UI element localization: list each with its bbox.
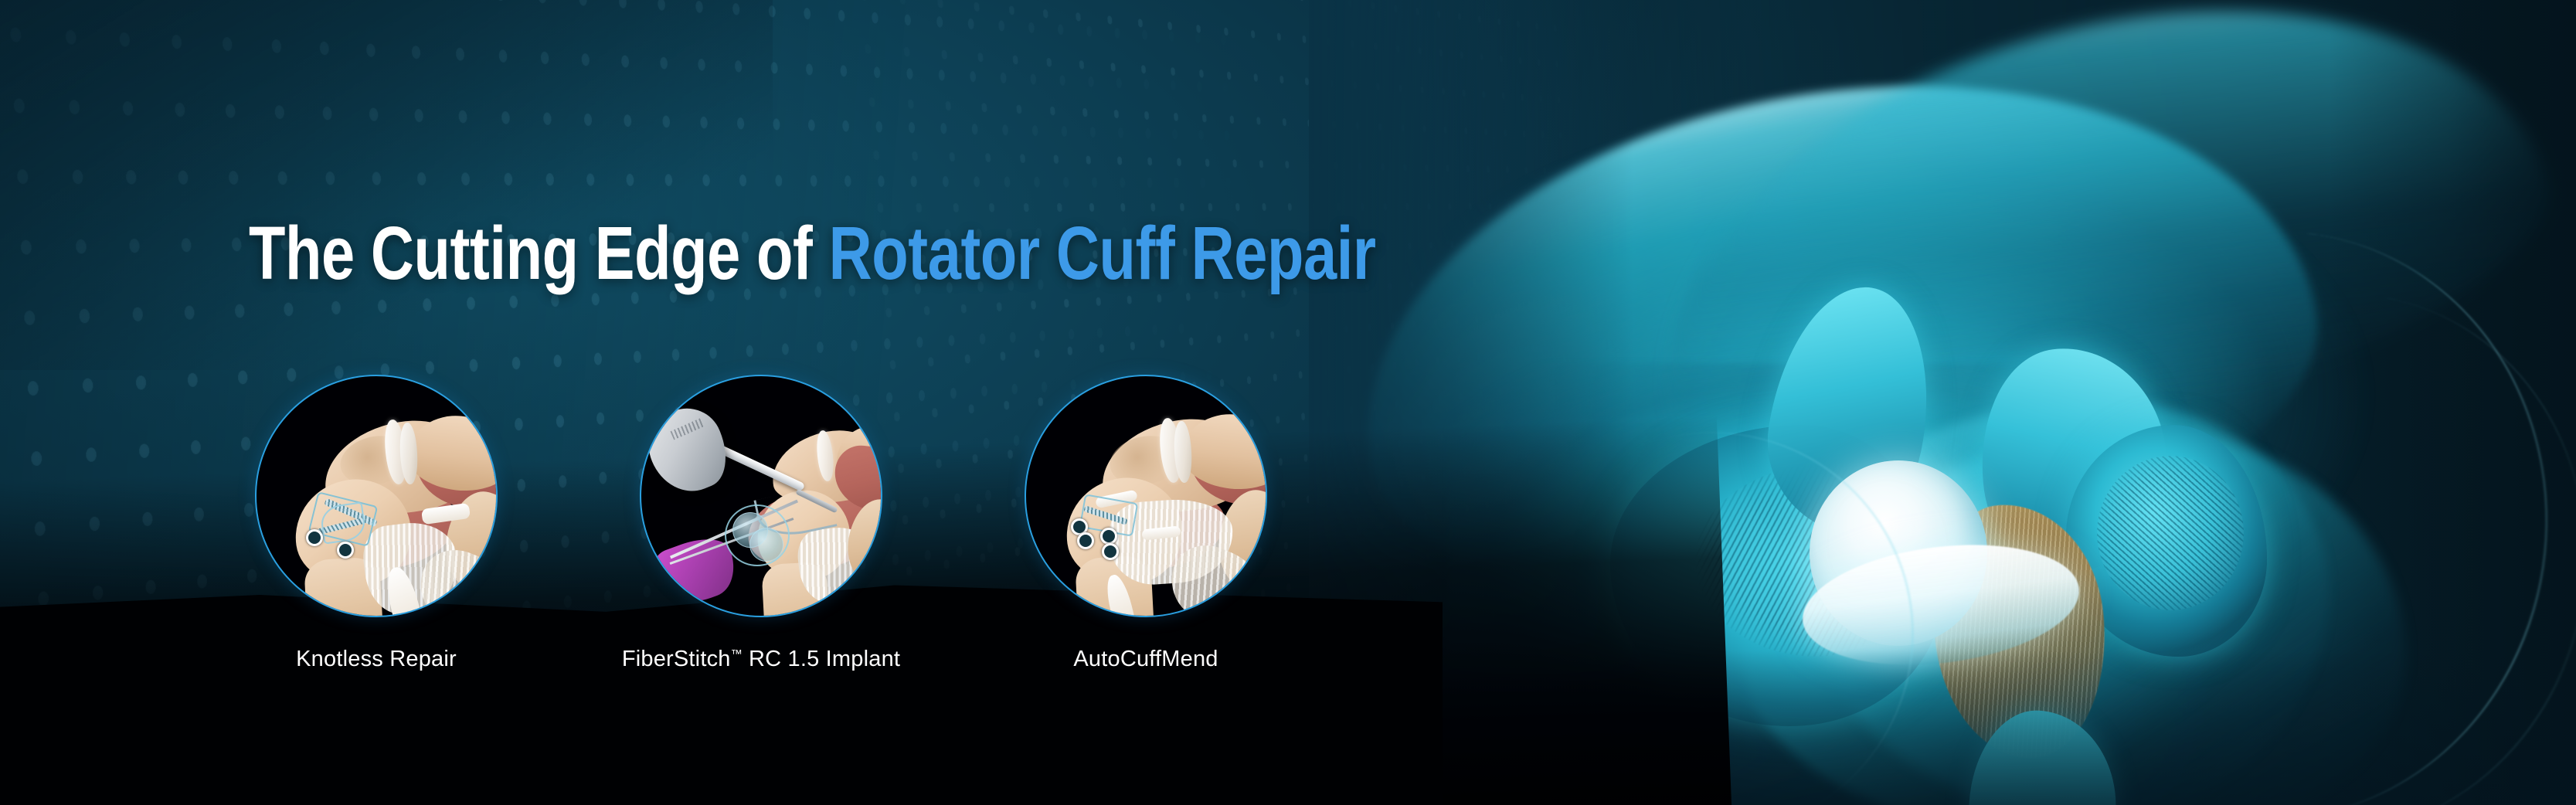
thumbnail-knotless-repair[interactable]: Knotless Repair bbox=[255, 375, 498, 617]
thumbnail-fiberstitch-implant[interactable]: FiberStitch™ RC 1.5 Implant bbox=[640, 375, 882, 617]
illustration-autocuffmend bbox=[1026, 376, 1266, 616]
anchor-4 bbox=[1102, 543, 1119, 560]
inserter-handle bbox=[640, 398, 738, 503]
thumbnail-circle[interactable] bbox=[1025, 375, 1267, 617]
thumbnail-autocuffmend[interactable]: AutoCuffMend bbox=[1025, 375, 1267, 617]
knotless-anchor-2 bbox=[337, 542, 354, 559]
thumbnail-caption: FiberStitch™ RC 1.5 Implant bbox=[622, 647, 900, 672]
thumbnail-circle[interactable] bbox=[255, 375, 498, 617]
caption-brand: FiberStitch bbox=[622, 647, 731, 671]
anchor-3 bbox=[1100, 528, 1117, 545]
thumbnail-circle[interactable] bbox=[640, 375, 882, 617]
thumbnail-caption: Knotless Repair bbox=[296, 647, 457, 672]
anchor-2 bbox=[1077, 532, 1094, 549]
illustration-fiberstitch-implant bbox=[641, 376, 881, 616]
illustration-knotless-repair bbox=[257, 376, 496, 616]
knotless-anchor-1 bbox=[306, 529, 323, 546]
trademark-symbol: ™ bbox=[731, 647, 743, 661]
marketing-banner: The Cutting Edge of Rotator Cuff Repair bbox=[0, 0, 2576, 805]
thumbnail-row: Knotless Repair bbox=[0, 0, 2576, 805]
suture-loop bbox=[725, 504, 790, 566]
thumbnail-caption: AutoCuffMend bbox=[1073, 647, 1218, 672]
caption-suffix: RC 1.5 Implant bbox=[743, 647, 900, 671]
